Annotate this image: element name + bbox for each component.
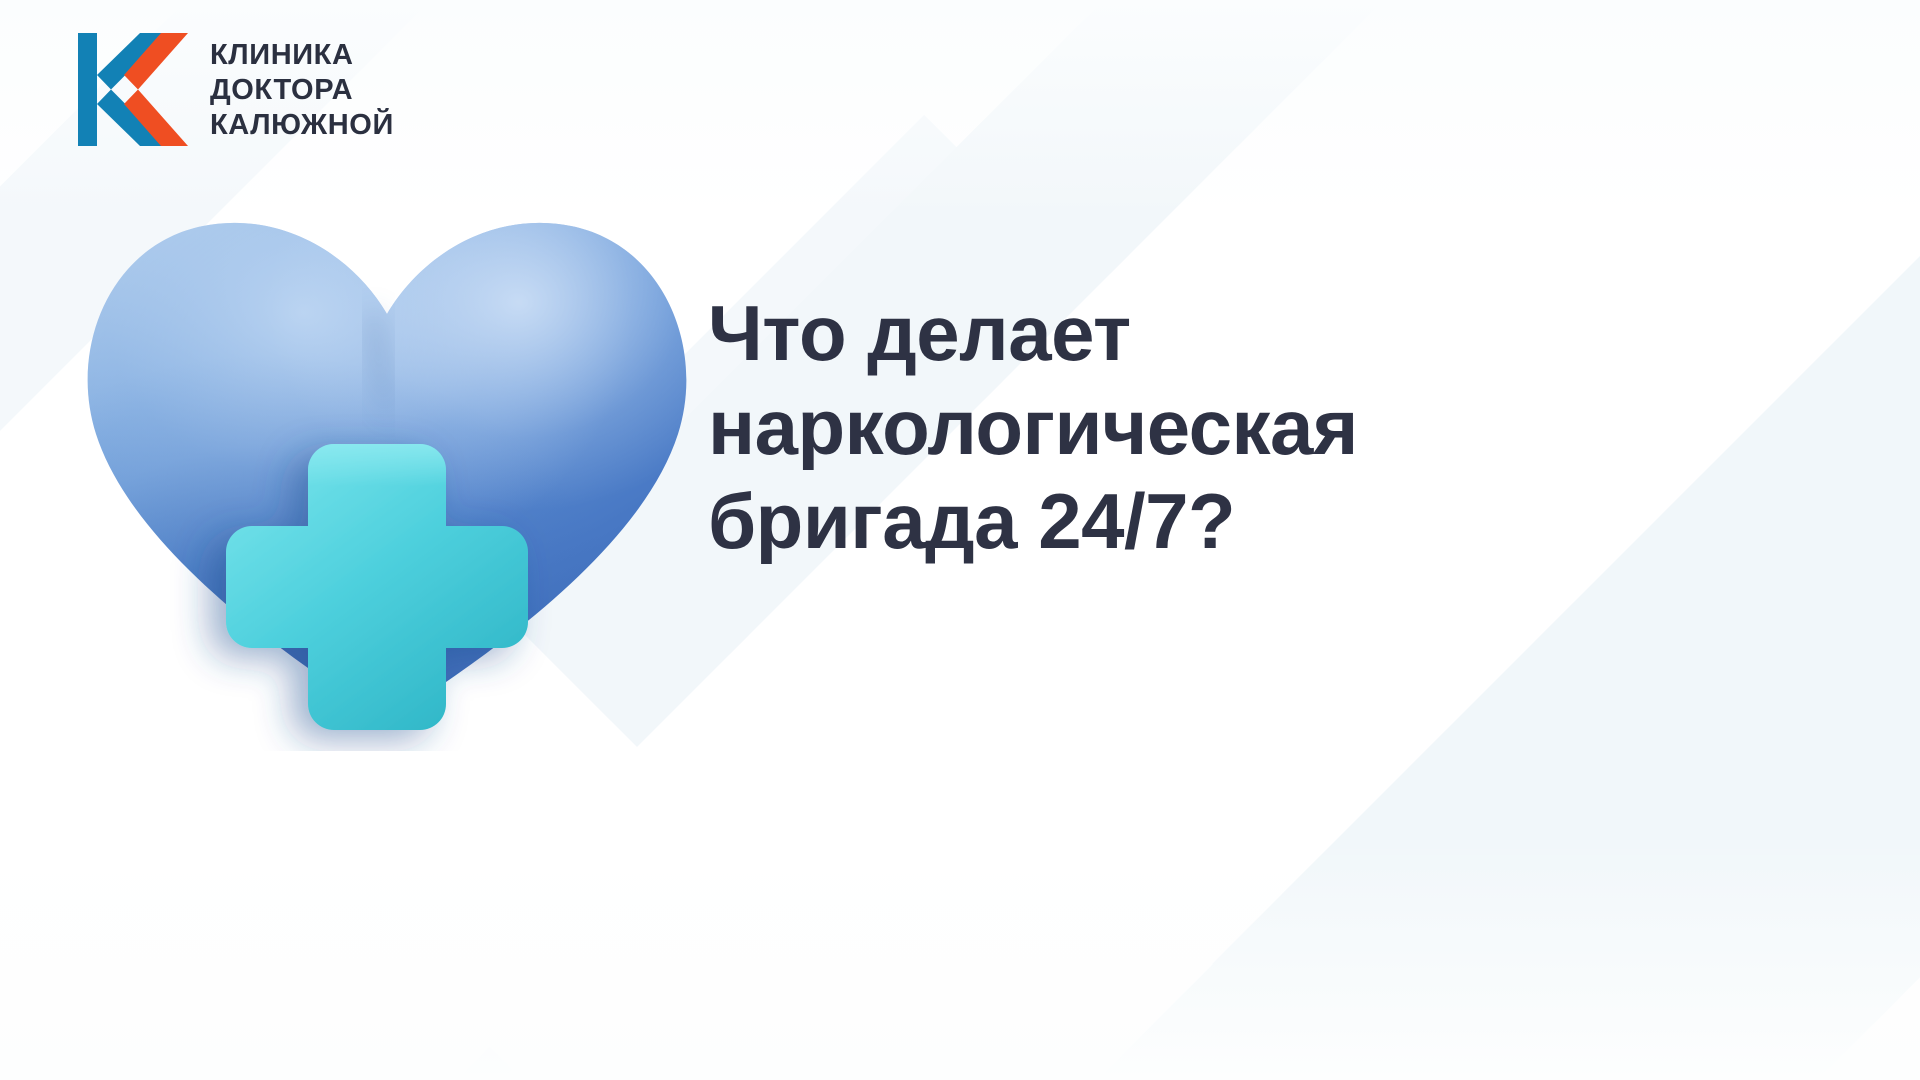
kk-monogram-icon: [78, 33, 188, 146]
brand-name-line-3: КАЛЮЖНОЙ: [210, 109, 394, 142]
headline-line-2: наркологическая: [708, 380, 1838, 474]
heart-with-cross-icon: [72, 196, 702, 751]
slide-canvas: КЛИНИКА ДОКТОРА КАЛЮЖНОЙ: [0, 0, 1920, 1080]
brand-name-line-2: ДОКТОРА: [210, 74, 394, 107]
brand-name: КЛИНИКА ДОКТОРА КАЛЮЖНОЙ: [210, 37, 394, 142]
background-wash-bottom: [0, 840, 1920, 1080]
headline-line-3: бригада 24/7?: [708, 474, 1838, 568]
headline-line-1: Что делает: [708, 286, 1838, 380]
heart-illustration: [72, 196, 702, 751]
page-title: Что делает наркологическая бригада 24/7?: [708, 286, 1838, 568]
brand-logo[interactable]: КЛИНИКА ДОКТОРА КАЛЮЖНОЙ: [78, 33, 394, 146]
brand-name-line-1: КЛИНИКА: [210, 39, 394, 72]
